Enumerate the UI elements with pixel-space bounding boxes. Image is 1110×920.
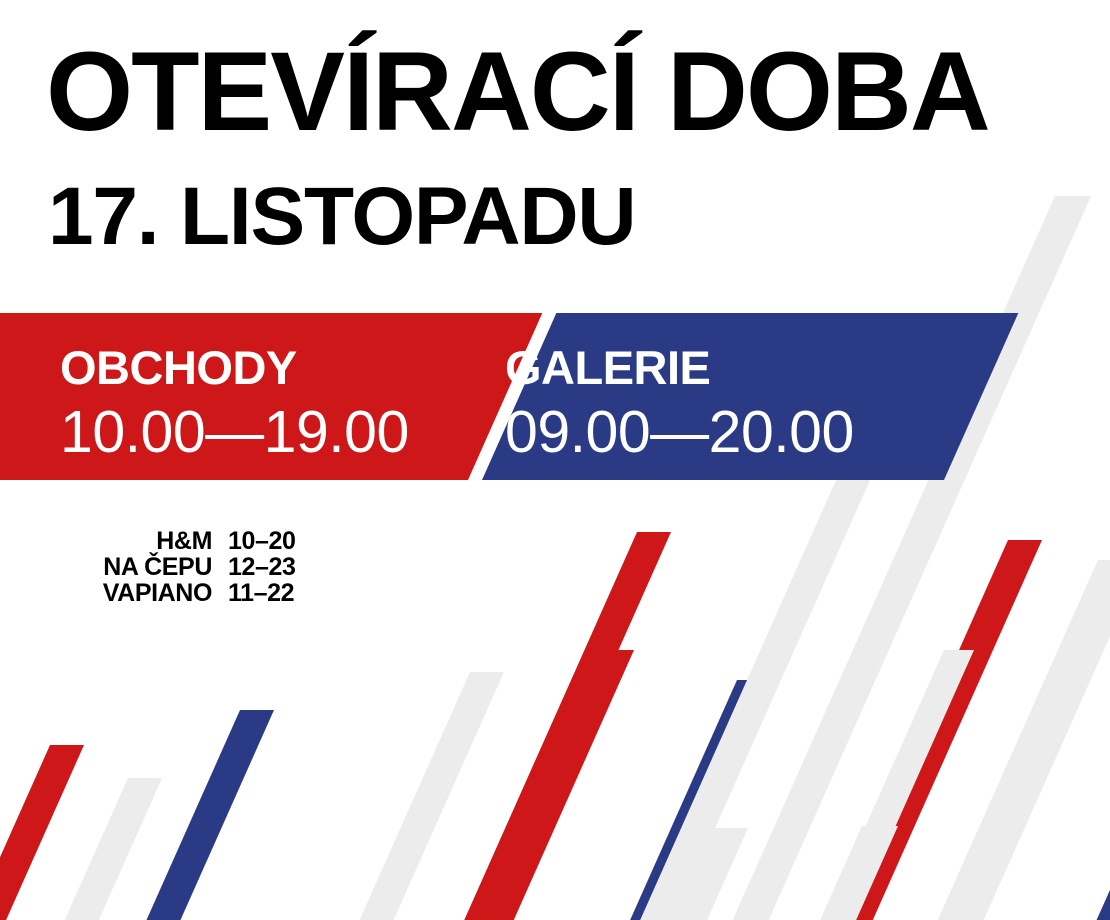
diagonal-stripe [667,828,748,920]
diagonal-stripe [142,710,274,920]
diagonal-stripe [834,540,1042,920]
store-hours: 12–23 [228,554,296,580]
diagonal-stripe [0,745,84,920]
page-title: OTEVÍRACÍ DOBA [46,36,989,148]
store-hours-row: VAPIANO11–22 [0,580,296,606]
hours-banner: OBCHODY 10.00—19.00 GALERIE 09.00—20.00 [0,313,1110,480]
diagonal-stripe [475,650,634,920]
diagonal-stripe [60,778,162,920]
diagonal-stripe [819,650,974,920]
store-hours-row: H&M10–20 [0,528,296,554]
page-subtitle-date: 17. LISTOPADU [48,176,635,258]
store-hours-list: H&M10–20NA ČEPU12–23VAPIANO11–22 [0,528,296,606]
diagonal-stripe [355,672,504,920]
store-name: VAPIANO [0,580,212,606]
store-hours: 10–20 [228,528,296,554]
shops-label: OBCHODY [60,344,297,391]
gallery-hours: 09.00—20.00 [505,403,854,462]
diagonal-stripe [626,680,771,920]
diagonal-stripe [933,560,1110,920]
shops-hours: 10.00—19.00 [60,403,409,462]
store-name: H&M [0,528,212,554]
diagonal-stripe [730,196,1091,920]
store-hours-row: NA ČEPU12–23 [0,554,296,580]
diagonal-stripe [636,460,879,920]
gallery-label: GALERIE [505,344,710,391]
opening-hours-poster: OTEVÍRACÍ DOBA 17. LISTOPADU OBCHODY 10.… [0,0,1110,920]
diagonal-stripe [816,826,898,920]
store-hours: 11–22 [228,580,294,606]
diagonal-stripe [1092,800,1110,920]
store-name: NA ČEPU [0,554,212,580]
diagonal-stripe [460,532,671,920]
